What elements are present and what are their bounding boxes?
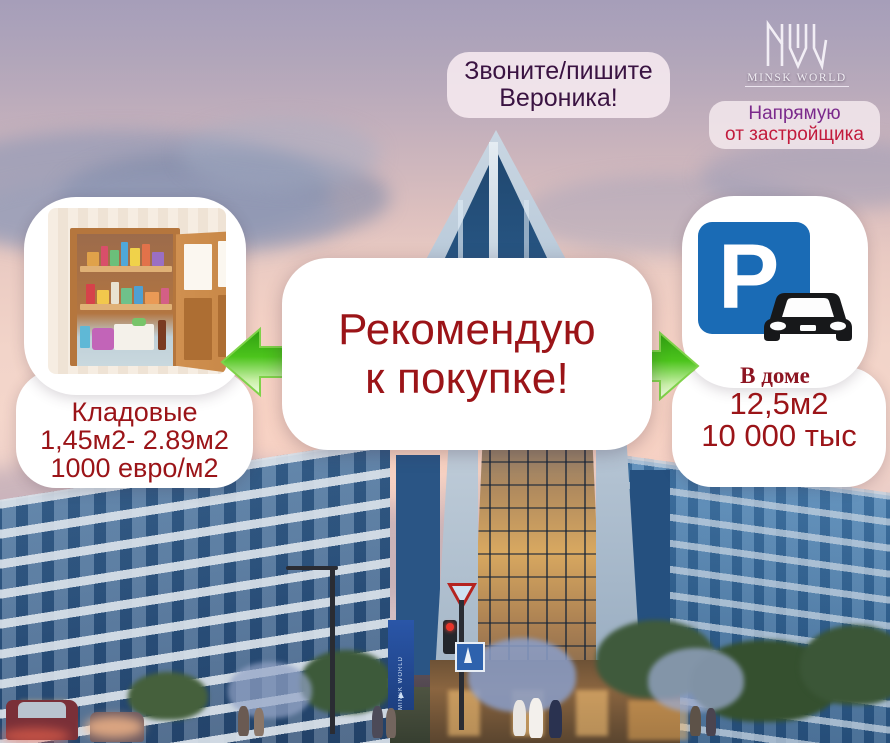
recommendation-line1: Рекомендую [338, 305, 596, 354]
tree-blossom [648, 648, 744, 712]
car-window [18, 702, 66, 718]
recommendation-card: Рекомендую к покупке! [282, 258, 652, 450]
direct-badge-line1: Напрямую [748, 104, 840, 125]
pantry-item [134, 286, 143, 304]
pantry-item [80, 326, 90, 348]
car-icon [760, 285, 856, 347]
parking-line: 10 000 тыс [672, 420, 886, 452]
storage-line: Кладовые [16, 398, 253, 426]
pantry-item [97, 290, 109, 304]
person [513, 700, 526, 736]
tree [800, 625, 890, 705]
pantry-item [110, 250, 119, 266]
person [254, 708, 264, 736]
pantry-item [87, 252, 99, 266]
call-bubble-line2: Вероника! [499, 85, 618, 112]
parking-line: 12,5м2 [672, 388, 886, 420]
person [690, 706, 701, 736]
call-veronika-bubble[interactable]: Звоните/пишите Вероника! [447, 52, 670, 118]
open-pantry-door-icon [48, 208, 226, 374]
street-lamp-arm [286, 566, 338, 570]
car-headlight-glow [84, 716, 144, 738]
direct-from-developer-badge: Напрямую от застройщика [709, 101, 880, 149]
tree [300, 650, 392, 714]
storage-line: 1,45м2- 2.89м2 [16, 426, 253, 454]
person [706, 708, 716, 736]
pantry-item [121, 242, 128, 266]
banner-monogram: ▲ [394, 690, 408, 704]
person [549, 700, 562, 738]
pantry-item [130, 248, 140, 266]
traffic-light-red [446, 623, 454, 631]
person [529, 698, 543, 738]
pantry-item [111, 282, 119, 304]
pantry-item [101, 246, 108, 266]
pantry-bottle [158, 320, 166, 350]
storage-card-lines: Кладовые 1,45м2- 2.89м2 1000 евро/м2 [16, 398, 253, 482]
door-glass-pane [184, 244, 212, 290]
pantry-shelf [80, 266, 172, 272]
car-taillight-glow [0, 728, 70, 743]
pantry-item [86, 284, 95, 304]
parking-card-lines: 12,5м2 10 000 тыс [672, 388, 886, 452]
minsk-world-logo: MINSK WORLD [742, 18, 852, 98]
pantry-item [161, 288, 169, 304]
pantry-shelf [80, 304, 172, 310]
pantry-item [142, 244, 150, 266]
recommendation-line2: к покупке! [365, 354, 569, 403]
pantry-item [145, 292, 159, 304]
call-bubble-line1: Звоните/пишите [464, 58, 652, 85]
person [386, 708, 396, 738]
door-glass-pane [218, 241, 226, 287]
pantry-box [114, 324, 154, 350]
person [238, 706, 249, 736]
pantry-item [152, 252, 164, 266]
podium-light [576, 690, 608, 736]
pantry-item [132, 318, 146, 326]
storage-line: 1000 евро/м2 [16, 454, 253, 482]
direct-badge-line2: от застройщика [725, 125, 864, 146]
street-lamp-pole [330, 566, 335, 734]
person [372, 706, 383, 738]
door-lower-panel [184, 298, 212, 360]
pantry-item [121, 288, 132, 304]
logo-name: MINSK WORLD [742, 72, 852, 84]
recommendation-text: Рекомендую к покупке! [282, 258, 652, 450]
pantry-container [92, 328, 114, 350]
logo-underline [745, 86, 849, 87]
mw-monogram-icon [760, 18, 834, 70]
promo-image: MINSK WORLD ▲ MINSK WORLD [0, 0, 890, 743]
